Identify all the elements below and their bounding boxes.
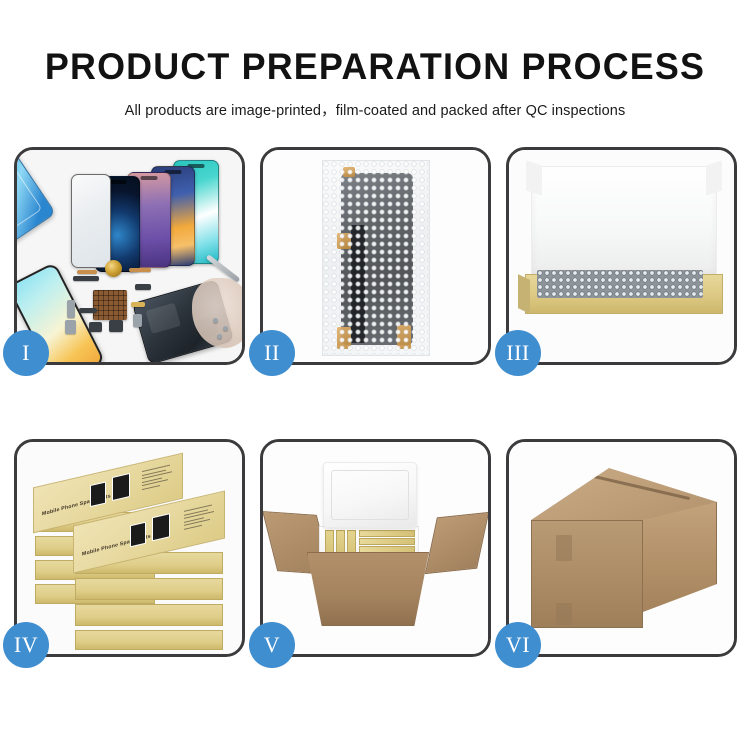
step-3-photo — [509, 150, 734, 362]
white-foam-lid-icon — [531, 166, 717, 278]
step-badge-1: I — [3, 330, 49, 376]
screw-icon — [213, 318, 218, 323]
flex-cable-icon — [129, 268, 151, 272]
kraft-box — [75, 630, 223, 650]
connector-icon — [73, 276, 99, 281]
phone-parts-photo — [17, 150, 242, 362]
phone-screen-print — [152, 513, 170, 541]
small-part-icon — [67, 300, 75, 318]
process-step-panel-2: II — [260, 147, 491, 365]
process-step-panel-6: VI — [506, 439, 737, 657]
bubble-texture — [323, 161, 429, 355]
bubble-wrapped-screen-photo — [263, 150, 488, 362]
header: PRODUCT PREPARATION PROCESS All products… — [0, 0, 750, 120]
box-stack: Mobile Phone Spare Parts Mobile Phone Sp… — [33, 456, 233, 646]
yellow-box — [359, 538, 415, 545]
speaker-icon — [89, 322, 102, 332]
process-step-panel-5: V — [260, 439, 491, 657]
page-title: PRODUCT PREPARATION PROCESS — [11, 48, 739, 85]
eps-foam-lid-icon — [323, 462, 417, 528]
screw-icon — [223, 326, 228, 331]
packing-tape-icon — [556, 603, 572, 625]
process-step-panel-3: III — [506, 147, 737, 365]
sealed-carton-photo — [509, 442, 734, 654]
step-6-photo — [509, 442, 734, 654]
gold-contact-icon — [131, 302, 145, 307]
phone-screen-print — [90, 481, 106, 507]
step-badge-2: II — [249, 330, 295, 376]
packing-tape-icon — [556, 535, 572, 561]
camera-module-icon — [109, 320, 123, 332]
carton-flap-right-icon — [425, 512, 488, 574]
cardboard-carton-icon — [307, 552, 429, 626]
battery-connector-icon — [133, 314, 142, 327]
step-badge-5: V — [249, 622, 295, 668]
bubble-wrap-fill-icon — [537, 270, 703, 298]
kraft-box — [75, 604, 223, 626]
screw-icon — [217, 334, 222, 339]
notch-icon — [109, 180, 126, 184]
small-part-icon — [79, 308, 97, 313]
carton-eps-photo — [263, 442, 488, 654]
stacked-boxes-photo: Mobile Phone Spare Parts Mobile Phone Sp… — [17, 442, 242, 654]
chip-array-icon — [93, 290, 127, 320]
step-5-photo — [263, 442, 488, 654]
sealed-carton-icon — [525, 468, 721, 634]
phone-screen-print — [112, 473, 130, 501]
step-badge-6: VI — [495, 622, 541, 668]
page-subtitle: All products are image-printed，film-coat… — [0, 99, 750, 120]
step-4-photo: Mobile Phone Spare Parts Mobile Phone Sp… — [17, 442, 242, 654]
yellow-box — [359, 530, 415, 537]
phone-display-fan — [69, 158, 242, 270]
kraft-box — [75, 578, 223, 600]
sim-tray-icon — [65, 320, 76, 334]
tempered-glass-icon — [71, 174, 111, 268]
product-preparation-infographic: PRODUCT PREPARATION PROCESS All products… — [0, 0, 750, 750]
screen-protector-film-icon — [17, 152, 56, 250]
carton-side-face — [643, 502, 717, 612]
coil-component-icon — [105, 260, 122, 277]
flex-cable-icon — [77, 270, 97, 274]
notch-icon — [141, 176, 158, 180]
carton-front-face — [531, 520, 643, 628]
box-spec-lines — [184, 504, 216, 533]
bubble-wrap-bag-icon — [322, 160, 430, 356]
step-badge-4: IV — [3, 622, 49, 668]
process-step-panel-4: Mobile Phone Spare Parts Mobile Phone Sp… — [14, 439, 245, 657]
yellow-box — [359, 546, 415, 553]
process-step-panel-1: I — [14, 147, 245, 365]
small-part-icon — [135, 284, 151, 290]
step-1-photo — [17, 150, 242, 362]
process-steps-grid: I II — [14, 147, 737, 675]
box-spec-lines — [142, 464, 174, 493]
phone-screen-print — [130, 522, 146, 548]
carton-seam — [576, 471, 690, 500]
step-2-photo — [263, 150, 488, 362]
step-badge-3: III — [495, 330, 541, 376]
foam-box-photo — [509, 150, 734, 362]
